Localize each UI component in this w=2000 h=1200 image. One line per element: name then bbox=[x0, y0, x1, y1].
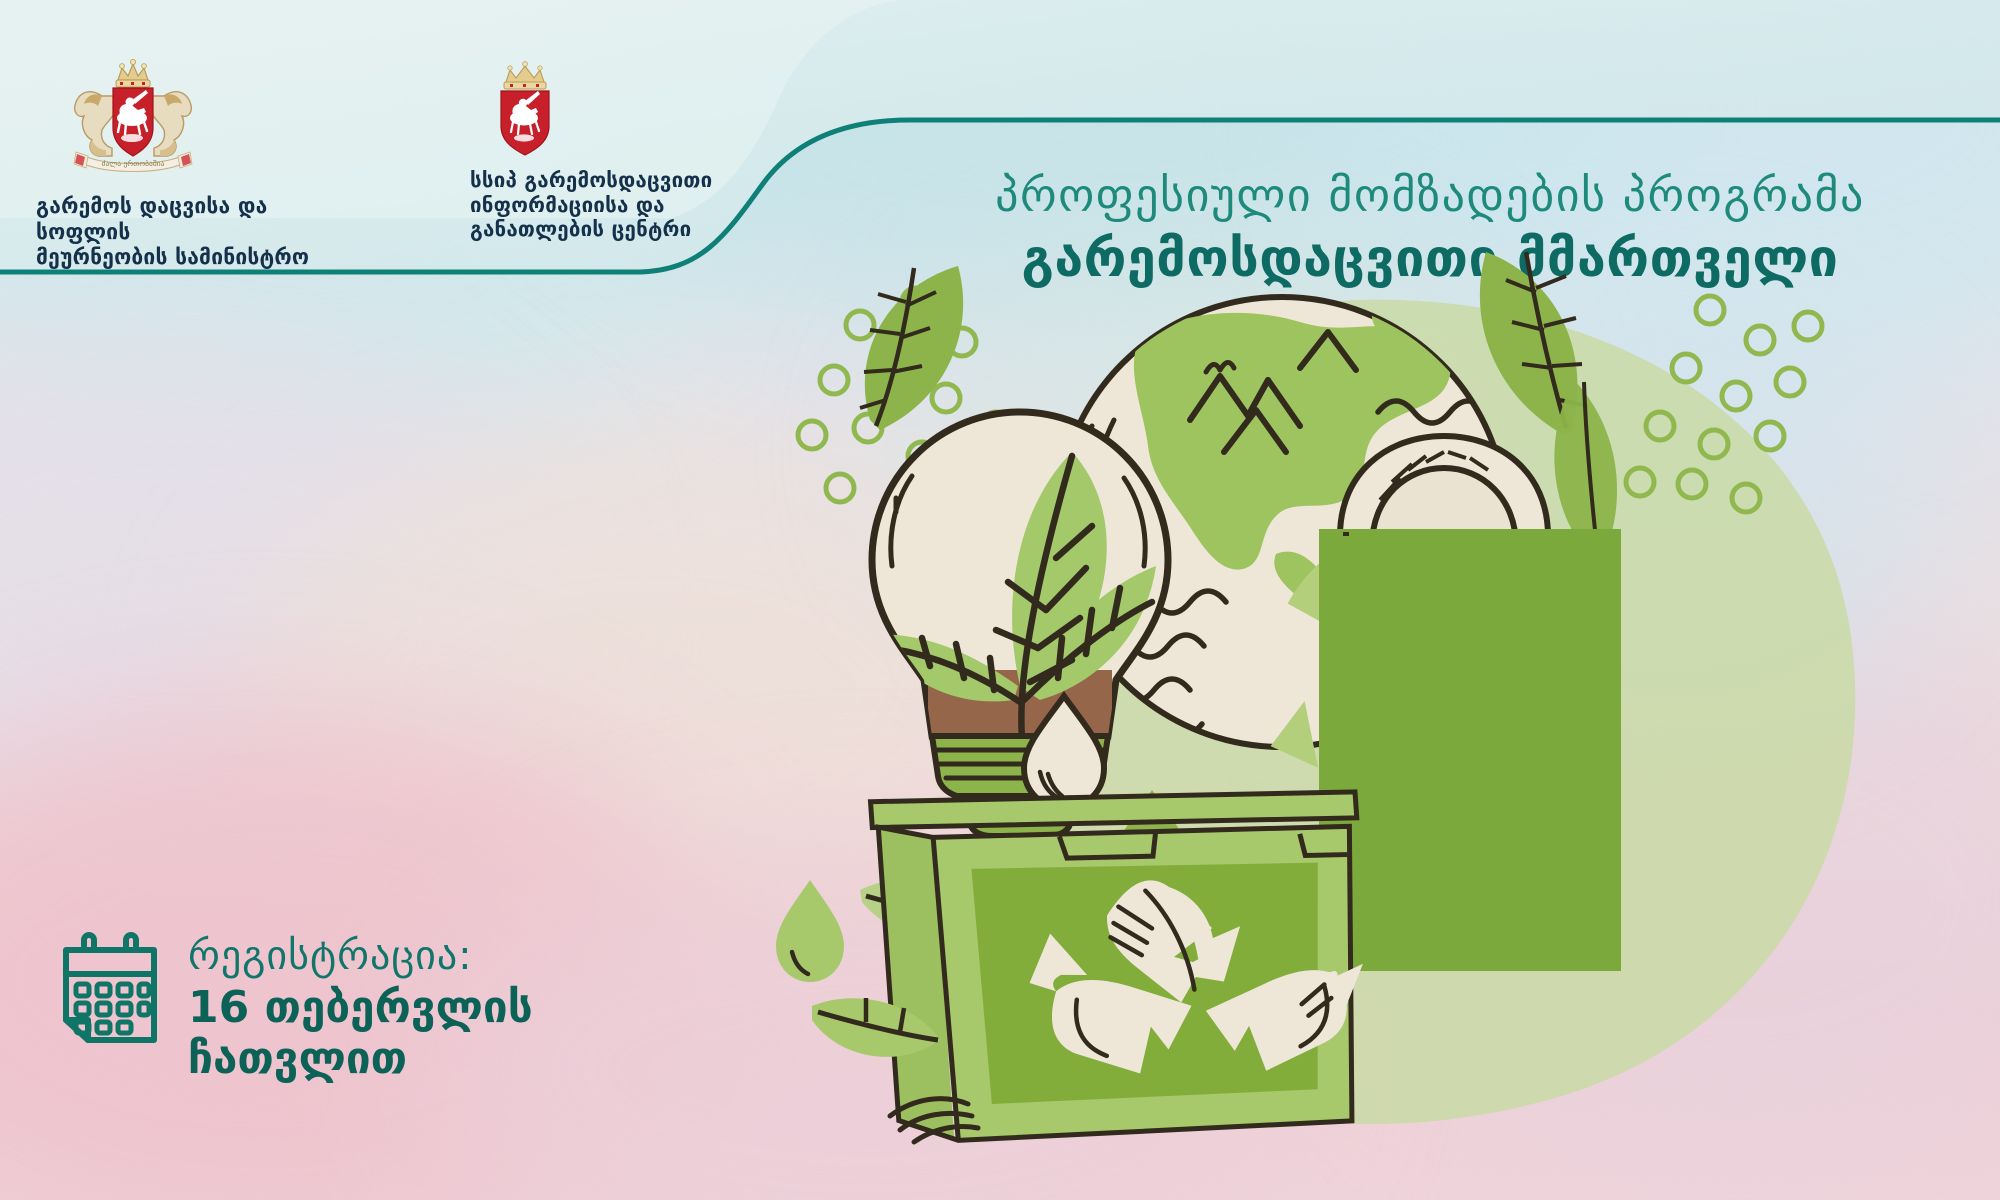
water-droplet bbox=[776, 880, 844, 982]
georgia-shield-crest-icon bbox=[470, 58, 760, 156]
poster-root: ძალა ერთობაშია გარემოს დაცვისა და სოფლის… bbox=[0, 0, 2000, 1200]
leaves bbox=[860, 266, 963, 430]
svg-text:ძალა ერთობაშია: ძალა ერთობაშია bbox=[102, 159, 165, 168]
logo-ministry: ძალა ერთობაშია გარემოს დაცვისა და სოფლის… bbox=[36, 52, 366, 271]
eco-illustration bbox=[700, 230, 2000, 1200]
logo-center: სსიპ გარემოსდაცვითი ინფორმაციისა და განა… bbox=[470, 58, 760, 242]
program-subtitle: პროფესიული მომზადების პროგრამა bbox=[880, 168, 1980, 222]
calendar-icon bbox=[58, 930, 162, 1052]
registration-block: რეგისტრაცია: 16 თებერვლის ჩათვლით bbox=[58, 930, 533, 1084]
registration-label: რეგისტრაცია: bbox=[188, 934, 533, 978]
registration-date-line2: ჩათვლით bbox=[188, 1033, 533, 1084]
georgia-coat-of-arms-icon: ძალა ერთობაშია bbox=[36, 52, 366, 182]
ministry-name: გარემოს დაცვისა და სოფლის მეურნეობის სამ… bbox=[36, 194, 366, 271]
registration-date-line1: 16 თებერვლის bbox=[188, 982, 533, 1033]
registration-text: რეგისტრაცია: 16 თებერვლის ჩათვლით bbox=[188, 930, 533, 1084]
